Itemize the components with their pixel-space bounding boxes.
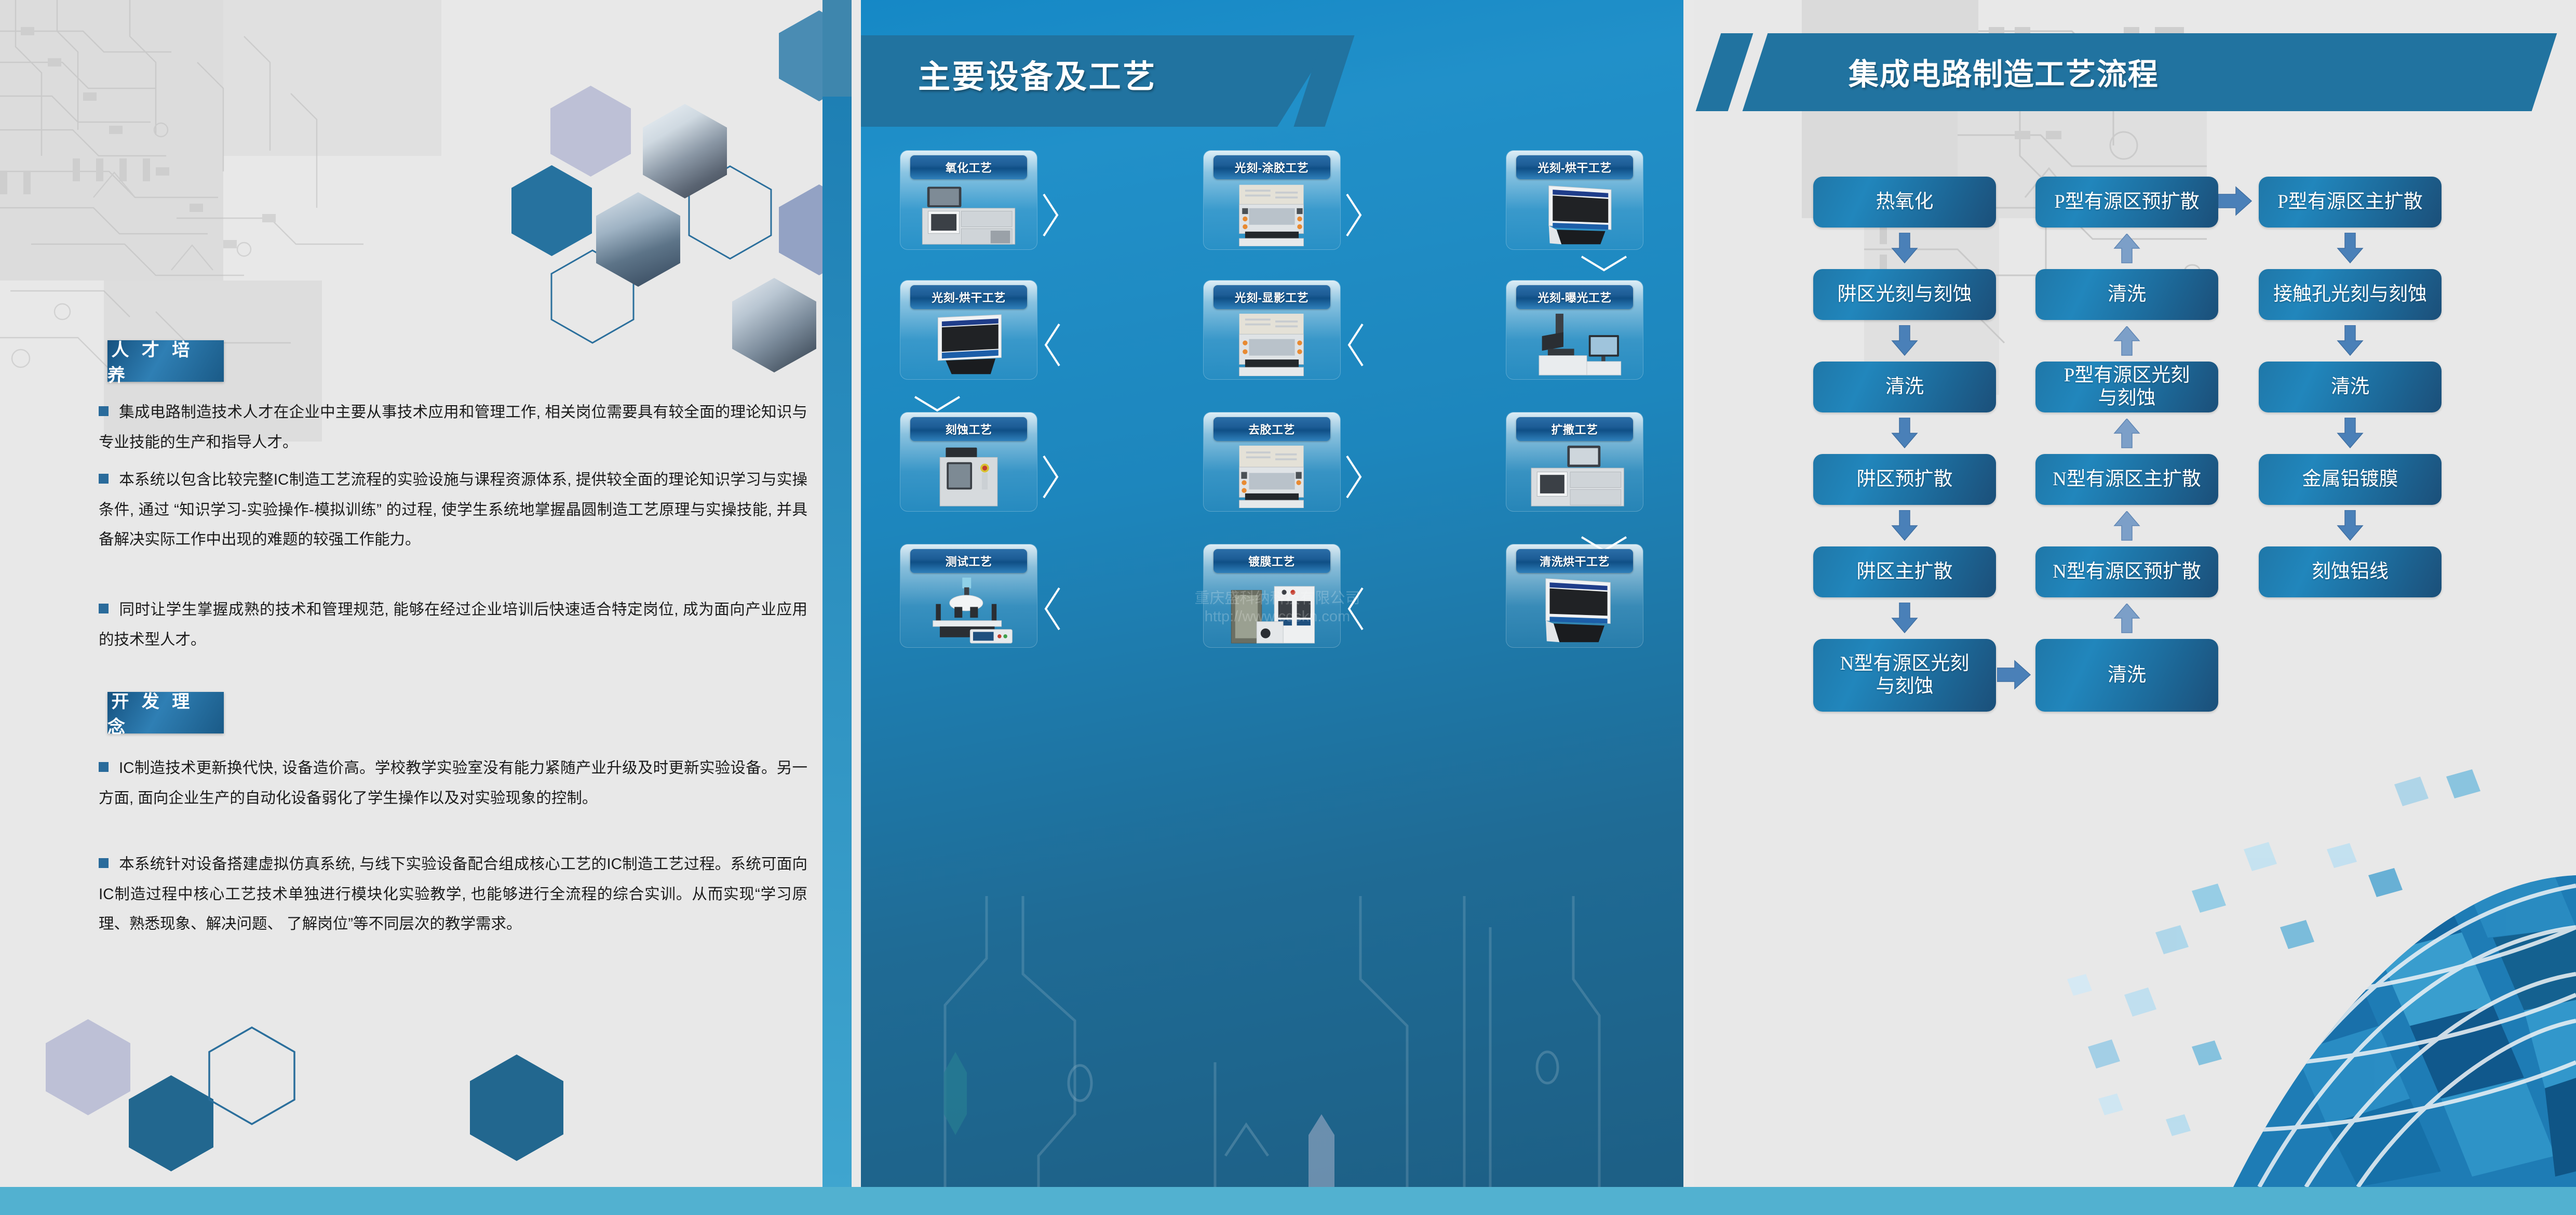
arrow-down-icon bbox=[2337, 233, 2364, 264]
equipment-label: 光刻-烘干工艺 bbox=[910, 285, 1027, 309]
flow-node[interactable]: N型有源区光刻 与刻蚀 bbox=[1813, 639, 1996, 712]
left-panel: 人 才 培 养 集成电路制造技术人才在企业中主要从事技术应用和管理工作, 相关岗… bbox=[0, 0, 852, 1215]
equipment-label: 清洗烘干工艺 bbox=[1516, 549, 1633, 573]
equipment-label: 扩撒工艺 bbox=[1516, 417, 1633, 441]
equipment-card[interactable]: 清洗烘干工艺 bbox=[1506, 544, 1643, 647]
arrow-down-icon bbox=[1891, 603, 1918, 634]
equipment-card[interactable]: 镀膜工艺 bbox=[1204, 544, 1340, 647]
arrow-up-icon bbox=[2113, 511, 2140, 541]
equipment-card[interactable]: 扩撒工艺 bbox=[1506, 412, 1643, 511]
flow-node[interactable]: 清洗 bbox=[2259, 362, 2442, 412]
equipment-label: 测试工艺 bbox=[910, 549, 1027, 573]
equipment-image-bake-oven-cabinet bbox=[1510, 183, 1639, 246]
panel-seam-right bbox=[1683, 0, 1694, 1187]
teal-hexagon-deco bbox=[944, 1052, 967, 1135]
hexagon-light-3 bbox=[46, 1019, 130, 1115]
equipment-label: 光刻-涂胶工艺 bbox=[1213, 155, 1330, 179]
hexagon-dark-3 bbox=[129, 1075, 213, 1171]
flow-node[interactable]: 热氧化 bbox=[1813, 177, 1996, 228]
arrow-up-icon bbox=[2113, 419, 2140, 449]
arrow-right-icon bbox=[1997, 660, 2031, 690]
equipment-image-etching-machine bbox=[905, 445, 1033, 508]
arrow-down-icon bbox=[1891, 233, 1918, 264]
chevron-down-icon bbox=[1575, 252, 1633, 276]
equipment-card[interactable]: 光刻-烘干工艺 bbox=[1506, 151, 1643, 249]
flow-node[interactable]: 金属铝镀膜 bbox=[2259, 454, 2442, 505]
bullet-square bbox=[99, 858, 109, 868]
hexagon-light-1 bbox=[550, 86, 631, 177]
equipment-image-developer-hood bbox=[1208, 313, 1336, 376]
chevron-right-icon bbox=[1040, 452, 1063, 502]
arrow-up-icon bbox=[2113, 234, 2140, 264]
arrow-down-icon bbox=[2337, 510, 2364, 541]
flow-node[interactable]: 刻蚀铝线 bbox=[2259, 546, 2442, 597]
arrow-down-icon bbox=[1891, 510, 1918, 541]
flow-node[interactable]: 阱区主扩散 bbox=[1813, 546, 1996, 597]
equipment-row: 氧化工艺 光刻-涂胶工艺 bbox=[900, 151, 1643, 249]
chevron-right-icon bbox=[1040, 190, 1063, 240]
arrow-up-icon bbox=[2113, 326, 2140, 356]
left-edge-accent-body bbox=[822, 97, 852, 1187]
paragraph-talent-1: 集成电路制造技术人才在企业中主要从事技术应用和管理工作, 相关岗位需要具有较全面… bbox=[99, 397, 807, 457]
flow-node[interactable]: 清洗 bbox=[1813, 362, 1996, 412]
hexagon-dark-1 bbox=[511, 165, 592, 256]
arrow-up-icon bbox=[2113, 604, 2140, 634]
equipment-image-stripper-hood bbox=[1208, 445, 1336, 508]
arrow-down-icon bbox=[2337, 418, 2364, 449]
flow-node[interactable]: 接触孔光刻与刻蚀 bbox=[2259, 269, 2442, 320]
poster-root: 人 才 培 养 集成电路制造技术人才在企业中主要从事技术应用和管理工作, 相关岗… bbox=[0, 0, 2576, 1215]
chevron-left-icon bbox=[1040, 320, 1063, 370]
bullet-square bbox=[99, 762, 109, 772]
flow-node[interactable]: N型有源区主扩散 bbox=[2035, 454, 2218, 505]
equipment-card[interactable]: 测试工艺 bbox=[900, 544, 1037, 647]
paragraph-concept-1: IC制造技术更新换代快, 设备造价高。学校教学实验室没有能力紧随产业升级及时更新… bbox=[99, 753, 807, 813]
equipment-label: 光刻-烘干工艺 bbox=[1516, 155, 1633, 179]
equipment-label: 镀膜工艺 bbox=[1213, 549, 1330, 573]
section-tag-talent: 人 才 培 养 bbox=[107, 340, 224, 382]
equipment-label: 刻蚀工艺 bbox=[910, 417, 1027, 441]
equipment-grid: 氧化工艺 光刻-涂胶工艺 bbox=[900, 151, 1643, 661]
equipment-label: 光刻-曝光工艺 bbox=[1516, 285, 1633, 309]
chevron-right-icon bbox=[1343, 452, 1367, 502]
header-slash-right bbox=[1696, 33, 1754, 111]
equipment-card[interactable]: 光刻-涂胶工艺 bbox=[1204, 151, 1340, 249]
flow-node[interactable]: 清洗 bbox=[2035, 269, 2218, 320]
chevron-right-icon bbox=[1343, 190, 1367, 240]
flow-node[interactable]: P型有源区光刻 与刻蚀 bbox=[2035, 362, 2218, 412]
bullet-square bbox=[99, 406, 109, 416]
chevron-left-icon bbox=[1040, 584, 1063, 634]
equipment-image-sputter-coater bbox=[1208, 577, 1336, 644]
bullet-square bbox=[99, 474, 109, 484]
equipment-image-oxidation-furnace bbox=[905, 183, 1033, 246]
panel-seam-left bbox=[852, 0, 861, 1187]
equipment-image-diffusion-furnace bbox=[1510, 445, 1639, 508]
bottom-accent-bar bbox=[0, 1187, 2576, 1215]
arrow-right-icon bbox=[2218, 186, 2253, 216]
hexagon-dark-4 bbox=[470, 1054, 563, 1161]
bullet-square bbox=[99, 604, 109, 613]
photo-hexagon-students-laptop bbox=[732, 278, 816, 372]
equipment-card[interactable]: 光刻-显影工艺 bbox=[1204, 281, 1340, 379]
equipment-image-clean-dry-cabinet bbox=[1510, 577, 1639, 644]
paragraph-talent-2: 本系统以包含比较完整IC制造工艺流程的实验设施与课程资源体系, 提供较全面的理论… bbox=[99, 465, 807, 555]
arrow-down-icon bbox=[1891, 418, 1918, 449]
section-tag-concept: 开 发 理 念 bbox=[107, 692, 224, 733]
equipment-label: 光刻-显影工艺 bbox=[1213, 285, 1330, 309]
equipment-image-bake-oven-cabinet bbox=[905, 313, 1033, 376]
circuit-pattern-center bbox=[852, 896, 1693, 1187]
flow-node[interactable]: 清洗 bbox=[2035, 639, 2218, 712]
flow-node[interactable]: 阱区光刻与刻蚀 bbox=[1813, 269, 1996, 320]
equipment-row: 测试工艺 bbox=[900, 544, 1643, 647]
equipment-image-photoresist-coater-hood bbox=[1208, 183, 1336, 246]
center-title: 主要设备及工艺 bbox=[918, 50, 1157, 97]
process-flowchart: 热氧化 阱区光刻与刻蚀 清洗 阱区预扩散 阱区主扩散 N型有源区光刻 与刻蚀 P… bbox=[1693, 177, 2576, 1008]
center-panel: 主要设备及工艺 重庆盛科纳科技有限公司 http://www.cqskn.com… bbox=[852, 0, 1693, 1187]
right-title: 集成电路制造工艺流程 bbox=[1849, 50, 2159, 94]
equipment-label: 去胶工艺 bbox=[1213, 417, 1330, 441]
equipment-image-probe-station-microscope bbox=[905, 577, 1033, 644]
equipment-card[interactable]: 去胶工艺 bbox=[1204, 412, 1340, 511]
arrow-down-icon bbox=[1891, 325, 1918, 356]
equipment-image-mask-aligner-workstation bbox=[1510, 313, 1639, 376]
equipment-card[interactable]: 氧化工艺 bbox=[900, 151, 1037, 249]
circuit-pattern-left bbox=[0, 0, 509, 384]
arrow-down-icon bbox=[2337, 325, 2364, 356]
flow-node[interactable]: 阱区预扩散 bbox=[1813, 454, 1996, 505]
paragraph-concept-2: 本系统针对设备搭建虚拟仿真系统, 与线下实验设备配合组成核心工艺的IC制造工艺过… bbox=[99, 849, 807, 939]
paragraph-talent-3: 同时让学生掌握成熟的技术和管理规范, 能够在经过企业培训后快速适合特定岗位, 成… bbox=[99, 595, 807, 655]
right-panel: 集成电路制造工艺流程 热氧化 阱区光刻与刻蚀 清洗 阱区预扩散 阱区主扩散 N型… bbox=[1693, 0, 2576, 1187]
equipment-label: 氧化工艺 bbox=[910, 155, 1027, 179]
equipment-card[interactable]: 刻蚀工艺 bbox=[900, 412, 1037, 511]
chevron-left-icon bbox=[1343, 320, 1367, 370]
equipment-row: 刻蚀工艺 去胶工艺 bbox=[900, 412, 1643, 511]
equipment-card[interactable]: 光刻-曝光工艺 bbox=[1506, 281, 1643, 379]
equipment-row: 光刻-烘干工艺 光刻-显影工艺 bbox=[900, 281, 1643, 379]
flow-node[interactable]: P型有源区预扩散 bbox=[2035, 177, 2218, 228]
flow-node[interactable]: N型有源区预扩散 bbox=[2035, 546, 2218, 597]
left-edge-accent-top bbox=[822, 0, 852, 97]
equipment-card[interactable]: 光刻-烘干工艺 bbox=[900, 281, 1037, 379]
hexagon-outline-3 bbox=[208, 1026, 296, 1126]
lavender-hexagon-deco bbox=[1309, 1114, 1334, 1187]
chevron-left-icon bbox=[1343, 584, 1367, 634]
flow-node[interactable]: P型有源区主扩散 bbox=[2259, 177, 2442, 228]
